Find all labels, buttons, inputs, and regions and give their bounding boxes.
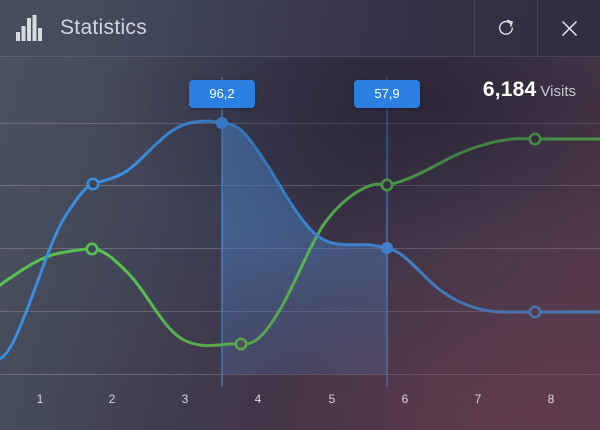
line-chart (0, 57, 600, 430)
x-tick-6: 6 (402, 392, 409, 406)
header-brand: Statistics (0, 0, 474, 56)
refresh-icon (497, 19, 515, 37)
tooltip-value-2[interactable]: 57,9 (354, 80, 420, 108)
x-tick-2: 2 (109, 392, 116, 406)
selection-band (222, 123, 387, 374)
widget-header: Statistics (0, 0, 600, 57)
statistics-widget: Statistics (0, 0, 600, 430)
x-axis: 1 2 3 4 5 6 7 8 (0, 384, 600, 430)
tooltip-value-1[interactable]: 96,2 (189, 80, 255, 108)
chart-canvas[interactable]: 96,2 57,9 6,184Visits 1 2 3 4 5 6 7 8 (0, 57, 600, 430)
x-tick-7: 7 (475, 392, 482, 406)
refresh-button[interactable] (474, 0, 537, 57)
x-tick-8: 8 (548, 392, 555, 406)
close-icon (561, 20, 578, 37)
visits-count: 6,184 (483, 78, 537, 101)
x-tick-3: 3 (182, 392, 189, 406)
visits-summary: 6,184Visits (483, 78, 576, 102)
x-tick-5: 5 (329, 392, 336, 406)
x-tick-1: 1 (37, 392, 44, 406)
x-tick-4: 4 (255, 392, 262, 406)
bar-chart-icon (16, 15, 44, 41)
close-button[interactable] (537, 0, 600, 57)
visits-label: Visits (540, 83, 576, 100)
page-title: Statistics (60, 16, 147, 40)
